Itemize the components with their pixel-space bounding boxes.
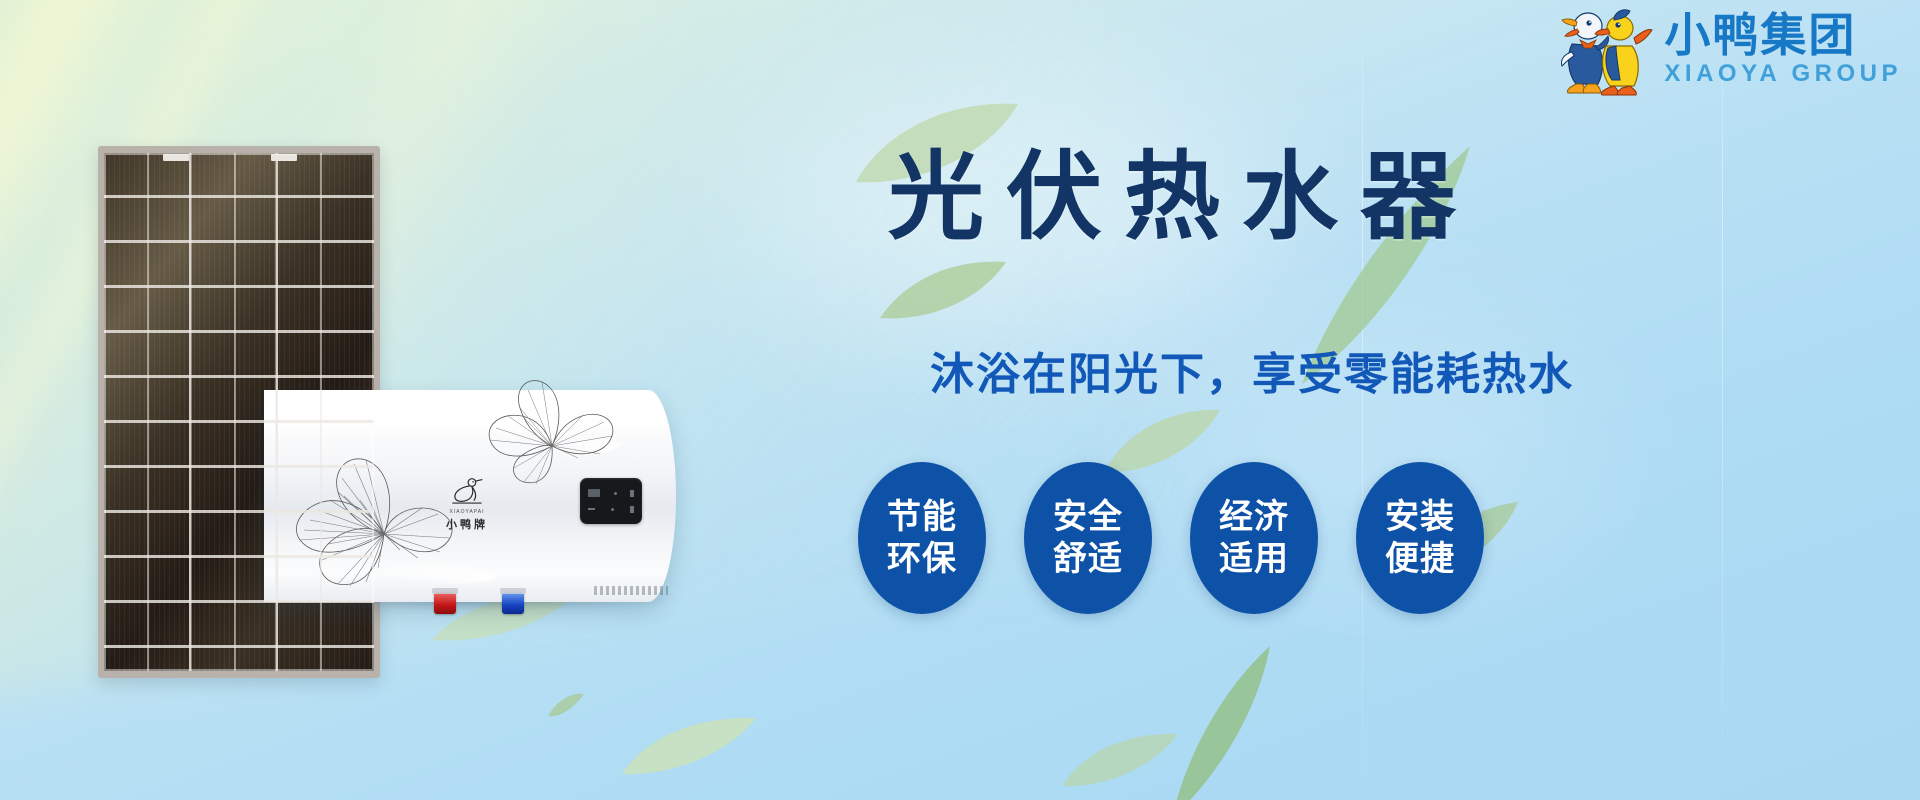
duck-logo-icon <box>450 474 484 508</box>
solar-junction-tab <box>163 154 189 161</box>
badge-energy-saving[interactable]: 节能 环保 <box>858 462 986 614</box>
display-indicator-icon <box>611 508 614 511</box>
badge-line-1: 安装 <box>1385 500 1455 534</box>
badge-line-2: 便捷 <box>1385 542 1455 576</box>
badge-line-1: 安全 <box>1053 500 1123 534</box>
background-seam-line <box>1722 0 1723 800</box>
photovoltaic-solar-panel <box>98 146 380 678</box>
badge-easy-install[interactable]: 安装 便捷 <box>1356 462 1484 614</box>
badge-line-2: 环保 <box>887 542 957 576</box>
page-subtitle: 沐浴在阳光下，享受零能耗热水 <box>930 338 1574 402</box>
hot-water-pipe-connector <box>434 592 456 614</box>
solar-junction-tab <box>271 154 297 161</box>
feature-badge-list: 节能 环保 安全 舒适 经济 适用 安装 便捷 <box>858 462 1484 614</box>
solar-busbar <box>234 153 236 671</box>
product-label-strip <box>594 586 668 595</box>
badge-line-2: 适用 <box>1219 542 1289 576</box>
display-row <box>588 501 634 517</box>
display-indicator-icon <box>630 490 634 497</box>
brand-pinyin: XIAOYAPAI <box>432 509 502 515</box>
brand-chinese: 小鸭牌 <box>432 516 502 532</box>
badge-line-1: 经济 <box>1219 500 1289 534</box>
control-display-panel[interactable] <box>580 478 642 524</box>
page-title: 光伏热水器 <box>888 148 1478 249</box>
display-row <box>588 485 634 501</box>
display-indicator-icon <box>630 506 634 513</box>
logo-wordmark: 小鸭集团 XIAOYA GROUP <box>1664 12 1902 87</box>
floral-pattern-icon <box>484 374 620 486</box>
solar-busbar <box>147 153 149 671</box>
badge-safe-comfort[interactable]: 安全 舒适 <box>1024 462 1152 614</box>
logo-english-name: XIAOYA GROUP <box>1664 61 1902 87</box>
display-indicator-icon <box>614 492 617 495</box>
display-segment <box>588 489 600 497</box>
logo-chinese-name: 小鸭集团 <box>1664 12 1856 59</box>
display-indicator-icon <box>588 508 595 510</box>
solar-cell-array <box>104 153 374 671</box>
promotional-banner: XIAOYAPAI 小鸭牌 光伏热水器 沐浴在阳光下，享受零能耗热水 节能 环保 <box>0 0 1920 800</box>
solar-grid-vertical <box>104 153 374 671</box>
badge-line-2: 舒适 <box>1053 542 1123 576</box>
cold-water-pipe-connector <box>502 592 524 614</box>
product-brand-mark: XIAOYAPAI 小鸭牌 <box>432 474 502 532</box>
xiaoya-group-logo[interactable]: 小鸭集团 XIAOYA GROUP <box>1558 4 1902 96</box>
two-duck-mascots-icon <box>1558 4 1654 96</box>
badge-line-1: 节能 <box>887 500 957 534</box>
badge-economical[interactable]: 经济 适用 <box>1190 462 1318 614</box>
solar-busbar <box>320 153 322 671</box>
